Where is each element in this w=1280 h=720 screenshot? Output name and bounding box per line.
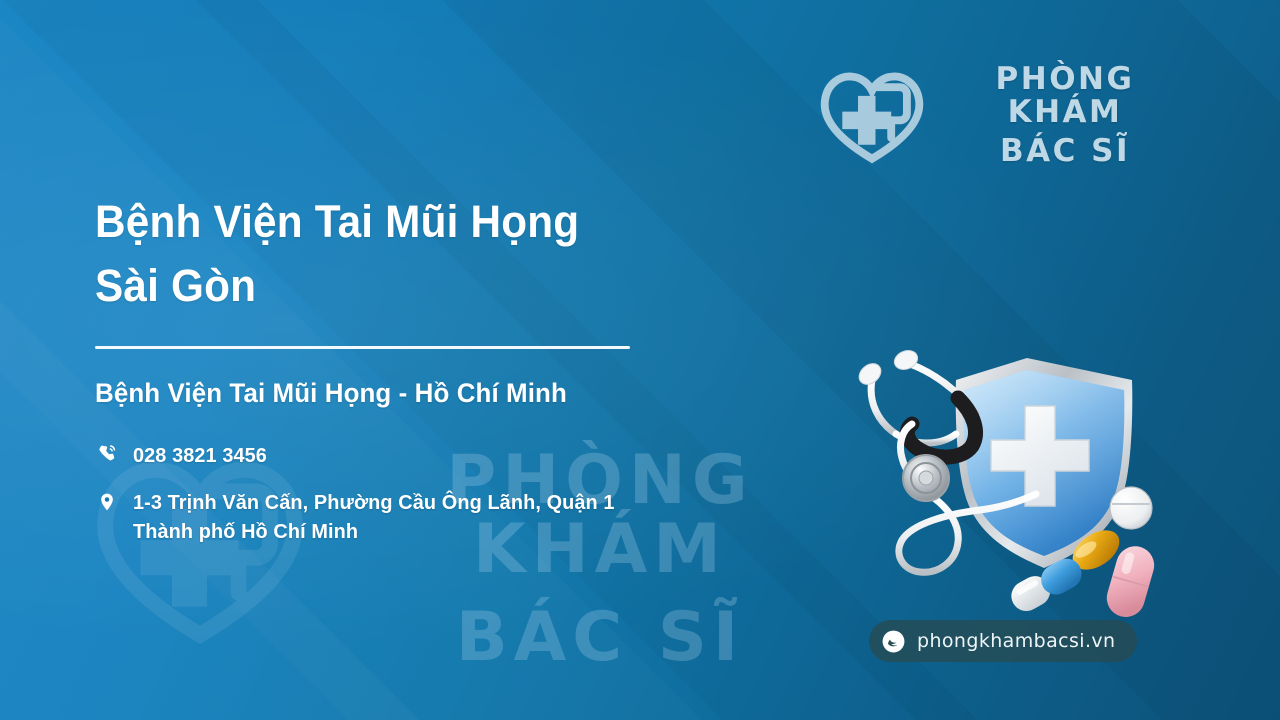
address-line2: Thành phố Hồ Chí Minh [133, 517, 615, 546]
site-logo-icon [881, 629, 906, 654]
address-line1: 1-3 Trịnh Văn Cấn, Phường Cầu Ông Lãnh, … [133, 491, 615, 514]
medical-shield-stethoscope-pills-illustration [840, 318, 1180, 618]
hero-content: Bệnh Viện Tai Mũi Họng Sài Gòn Bệnh Viện… [95, 190, 825, 563]
brand-line1: PHÒNG KHÁM [942, 63, 1188, 129]
page-title-line1: Bệnh Viện Tai Mũi Họng [95, 190, 781, 254]
brand-logo: PHÒNG KHÁM BÁC SĨ [818, 63, 1188, 168]
phone-ringing-icon [95, 441, 119, 471]
title-divider [95, 346, 630, 349]
banner-canvas: PHÒNG KHÁM BÁC SĨ PHÒNG KHÁM BÁC SĨ Bệnh… [0, 0, 1280, 720]
pill-white-tablet [1110, 487, 1152, 529]
phone-number: 028 3821 3456 [133, 441, 267, 470]
address: 1-3 Trịnh Văn Cấn, Phường Cầu Ông Lãnh, … [133, 488, 615, 546]
map-pin-icon [95, 488, 119, 518]
page-title: Bệnh Viện Tai Mũi Họng Sài Gòn [95, 190, 781, 318]
page-title-line2: Sài Gòn [95, 254, 781, 318]
site-url-badge[interactable]: phongkhambacsi.vn [869, 620, 1137, 662]
contact-block: 028 3821 3456 1-3 Trịnh Văn Cấn, Phường … [95, 441, 825, 546]
contact-address-row[interactable]: 1-3 Trịnh Văn Cấn, Phường Cầu Ông Lãnh, … [95, 488, 825, 546]
site-url-text: phongkhambacsi.vn [917, 630, 1115, 652]
contact-phone-row[interactable]: 028 3821 3456 [95, 441, 825, 471]
brand-line2: BÁC SĨ [942, 135, 1188, 168]
page-subtitle: Bệnh Viện Tai Mũi Họng - Hồ Chí Minh [95, 377, 796, 411]
heart-cross-logo-icon [818, 68, 926, 164]
